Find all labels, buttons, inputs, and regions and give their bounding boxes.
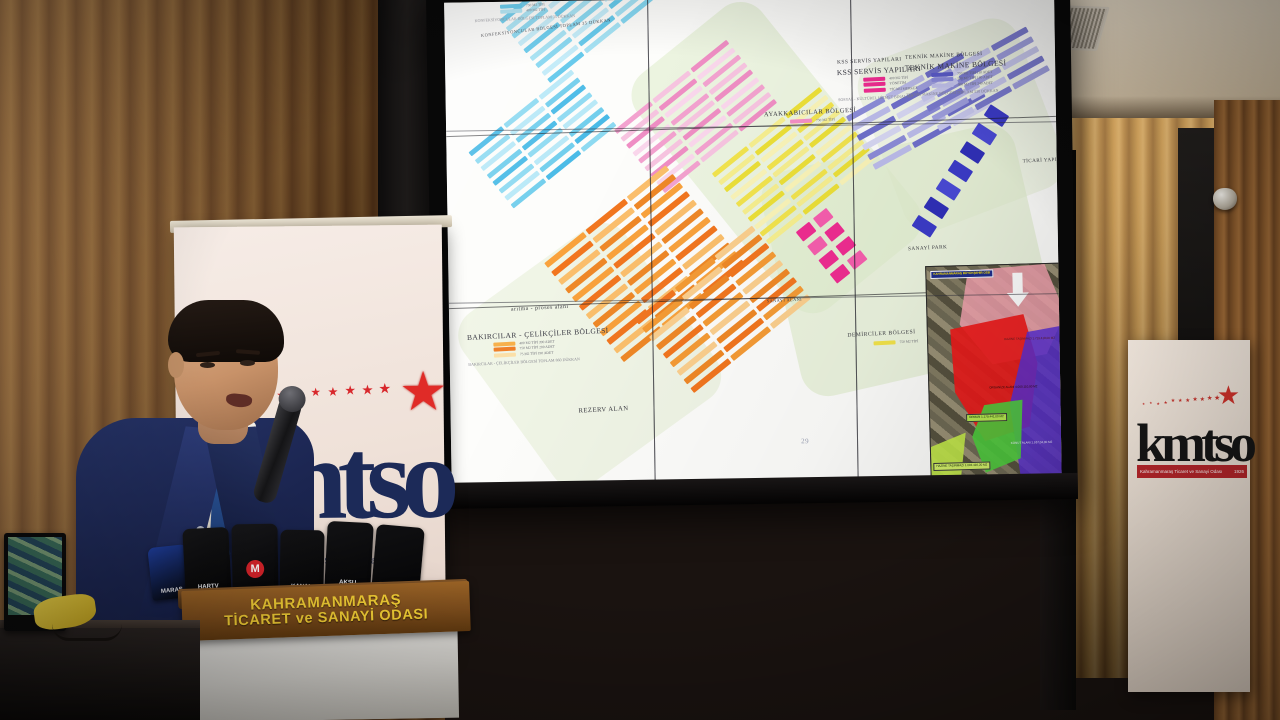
- star-icon: ★: [1171, 400, 1175, 405]
- legend-swatch: [863, 82, 885, 87]
- eye-left: [200, 362, 215, 368]
- podium-nameplate: KAHRAMANMARAŞ TİCARET ve SANAYİ ODASI: [181, 581, 471, 641]
- star-icon: ★: [361, 383, 373, 397]
- inset-region-label-4: ORMAN 1.179.441,00 M2: [966, 413, 1007, 422]
- kmtso-banner-right: ★★★★★★★★★★★★ kmtso Kahramanmaraş Ticaret…: [1128, 340, 1250, 692]
- legend-swatch: [500, 3, 522, 8]
- plan-legend: TEKNİK MAKİNE BÖLGESİ750 M2 TİPİ 110 ADE…: [905, 58, 1008, 97]
- press-microphone-flag: HARTV: [182, 527, 231, 596]
- kmtso-wordmark-right: kmtso: [1136, 416, 1252, 470]
- star-icon: ★: [1164, 401, 1168, 405]
- legend-item-label: YÖNETİM: [889, 81, 906, 86]
- star-icon: ★: [327, 386, 338, 398]
- kmtso-year: 1926: [1234, 469, 1244, 474]
- legend-swatch: [500, 9, 522, 14]
- location-arrow-icon: [1012, 273, 1023, 295]
- legend-swatch: [493, 341, 515, 346]
- legend-swatch: [932, 82, 954, 87]
- inset-region-label-3: KONUT ALANI 1.537,04,00 M2: [1009, 440, 1055, 447]
- eye-right: [240, 360, 255, 366]
- legend-swatch: [931, 77, 953, 82]
- star-icon: ★: [1192, 398, 1197, 404]
- legend-swatch: [864, 87, 886, 92]
- slide-page-number: 29: [801, 437, 809, 445]
- star-icon: ★: [378, 381, 391, 395]
- star-icon: ★: [1142, 403, 1145, 406]
- star-row-icon-right: ★★★★★★★★★★★★: [1142, 392, 1238, 414]
- legend-swatch: [931, 71, 953, 76]
- star-icon: ★: [344, 384, 356, 397]
- star-icon: ★: [1200, 397, 1205, 403]
- legend-item-label: 750 M2 TİPİ: [526, 2, 545, 7]
- legend-swatch: [863, 76, 885, 81]
- big-star-icon: ★: [399, 365, 448, 420]
- video-wall-frame: KONFEKSİYONCULAR BÖLGESİ TOPLAM 35 DÜKKA…: [426, 0, 1078, 509]
- star-icon: ★: [1156, 402, 1160, 406]
- star-icon: ★: [1207, 396, 1213, 402]
- legend-item-label: 400 M2 TİPİ: [526, 8, 545, 13]
- plan-legend: BAKIRCILAR - ÇELİKÇİLER BÖLGESİ400 M2 Tİ…: [467, 326, 610, 367]
- cable: [52, 624, 122, 641]
- video-wall-display[interactable]: KONFEKSİYONCULAR BÖLGESİ TOPLAM 35 DÜKKA…: [444, 0, 1061, 485]
- screenshot-root: KONFEKSİYONCULAR BÖLGESİ TOPLAM 35 DÜKKA…: [0, 0, 1280, 720]
- inset-region-label-5: HAZİNE TAŞINMAZI 1.002.416,20 M2: [933, 462, 990, 471]
- star-icon: ★: [1149, 402, 1152, 406]
- legend-swatch: [494, 352, 516, 357]
- inset-header-chip: KAHRAMANMARAŞ BÜYÜKŞEHİR OSB: [930, 269, 993, 278]
- security-camera-icon: [1213, 188, 1237, 210]
- press-microphone-flag: M: [231, 524, 278, 594]
- press-microphone-cluster: MARAŞHARTVMKANALAKSUtrt: [150, 512, 450, 592]
- equipment-table: [0, 628, 200, 720]
- kmtso-subtitle-bar-right: Kahramanmaraş Ticaret ve Sanayi Odası 19…: [1137, 465, 1247, 478]
- legend-item-label: 300 M2 TİPİ 240 ADET: [958, 80, 993, 86]
- ear: [168, 352, 184, 378]
- legend-swatch: [494, 347, 516, 352]
- big-star-icon: ★: [1217, 382, 1240, 408]
- star-icon: ★: [1185, 399, 1190, 404]
- microphone-channel-label: M: [246, 560, 264, 578]
- hair: [168, 300, 284, 362]
- star-icon: ★: [1178, 399, 1183, 404]
- kmtso-subtitle-right: Kahramanmaraş Ticaret ve Sanayi Odası: [1140, 469, 1222, 474]
- legend-item-label: 75 M2 TİPİ 190 ADET: [520, 350, 554, 356]
